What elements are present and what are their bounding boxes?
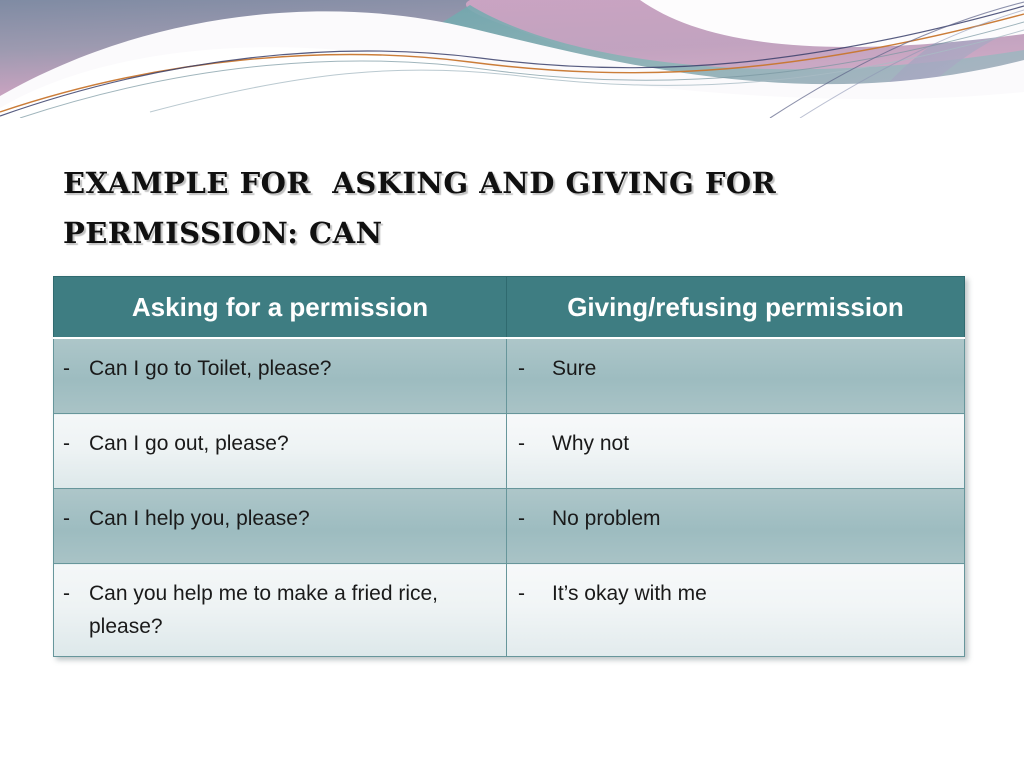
decorative-wave-banner bbox=[0, 0, 1024, 118]
cell-asking: - Can I go to Toilet, please? bbox=[54, 338, 507, 414]
cell-asking: - Can you help me to make a fried rice, … bbox=[54, 564, 507, 657]
bullet-dash: - bbox=[60, 427, 85, 460]
cell-text: Can you help me to make a fried rice, pl… bbox=[89, 577, 498, 643]
cell-text: No problem bbox=[552, 502, 956, 535]
bullet-dash: - bbox=[513, 577, 548, 610]
table-header-row: Asking for a permission Giving/refusing … bbox=[54, 277, 965, 339]
bullet-dash: - bbox=[513, 352, 548, 385]
permission-examples-table: Asking for a permission Giving/refusing … bbox=[53, 276, 965, 657]
cell-asking: - Can I go out, please? bbox=[54, 414, 507, 489]
cell-asking: - Can I help you, please? bbox=[54, 489, 507, 564]
cell-giving: - No problem bbox=[507, 489, 965, 564]
cell-giving: - Why not bbox=[507, 414, 965, 489]
table-row: - Can I go to Toilet, please? - Sure bbox=[54, 338, 965, 414]
table-row: - Can I go out, please? - Why not bbox=[54, 414, 965, 489]
bullet-dash: - bbox=[513, 427, 548, 460]
cell-text: Why not bbox=[552, 427, 956, 460]
cell-giving: - It’s okay with me bbox=[507, 564, 965, 657]
table-row: - Can I help you, please? - No problem bbox=[54, 489, 965, 564]
slide-body: EXAMPLE FOR ASKING AND GIVING FOR PERMIS… bbox=[0, 118, 1024, 768]
column-header-giving: Giving/refusing permission bbox=[507, 277, 965, 339]
cell-giving: - Sure bbox=[507, 338, 965, 414]
column-header-asking: Asking for a permission bbox=[54, 277, 507, 339]
page-title: EXAMPLE FOR ASKING AND GIVING FOR PERMIS… bbox=[53, 158, 983, 258]
cell-text: Can I help you, please? bbox=[89, 502, 498, 535]
bullet-dash: - bbox=[60, 352, 85, 385]
cell-text: Sure bbox=[552, 352, 956, 385]
cell-text: It’s okay with me bbox=[552, 577, 956, 610]
cell-text: Can I go out, please? bbox=[89, 427, 498, 460]
banner-graphic bbox=[0, 0, 1024, 118]
table-row: - Can you help me to make a fried rice, … bbox=[54, 564, 965, 657]
bullet-dash: - bbox=[60, 577, 85, 610]
bullet-dash: - bbox=[513, 502, 548, 535]
bullet-dash: - bbox=[60, 502, 85, 535]
cell-text: Can I go to Toilet, please? bbox=[89, 352, 498, 385]
